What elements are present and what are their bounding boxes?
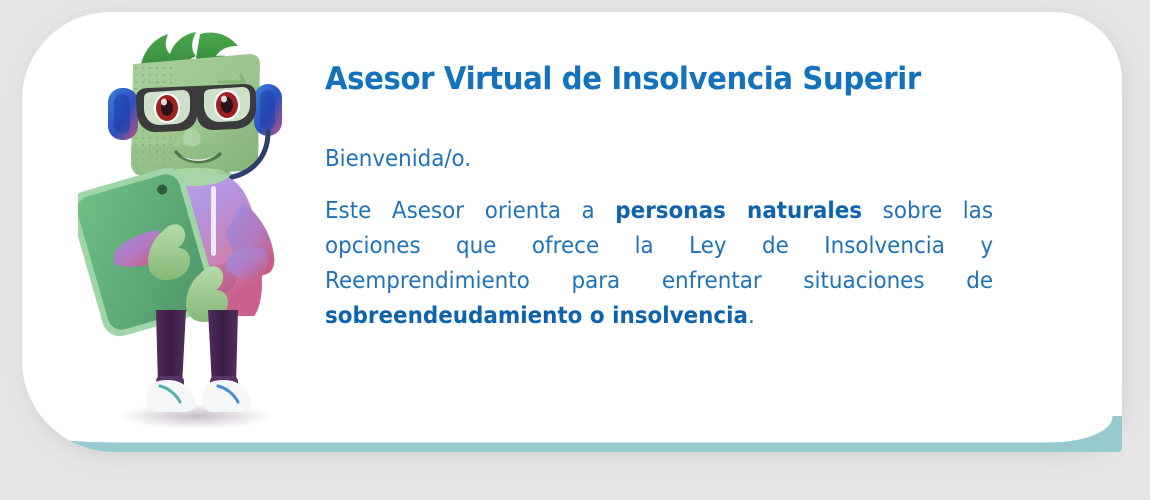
paragraph-segment-1: Este Asesor orienta a xyxy=(325,198,615,224)
paragraph-bold-sobreendeudamiento: sobreendeudamiento o insolvencia xyxy=(325,303,748,329)
greeting-text: Bienvenida/o. xyxy=(325,144,950,174)
hoodie-string-right xyxy=(211,186,216,256)
headphone-right xyxy=(254,84,282,136)
intro-paragraph: Este Asesor orienta a personas naturales… xyxy=(325,194,993,334)
title-text-part1: Asesor Virtual de Insolvencia xyxy=(325,61,802,97)
page-background: Asesor Virtual de Insolvencia Superir Bi… xyxy=(0,0,1150,500)
paragraph-segment-3: . xyxy=(748,303,755,329)
paragraph-bold-personas-naturales: personas naturales xyxy=(615,198,862,224)
legs xyxy=(156,310,238,392)
text-column: Asesor Virtual de Insolvencia Superir Bi… xyxy=(325,60,997,334)
headphone-left xyxy=(108,88,138,140)
mascot-illustration xyxy=(78,24,308,434)
mascot-svg xyxy=(78,24,308,434)
page-title: Asesor Virtual de Insolvencia Superir xyxy=(325,60,957,98)
title-text-part2: Superir xyxy=(802,61,920,97)
glasses xyxy=(136,84,256,132)
